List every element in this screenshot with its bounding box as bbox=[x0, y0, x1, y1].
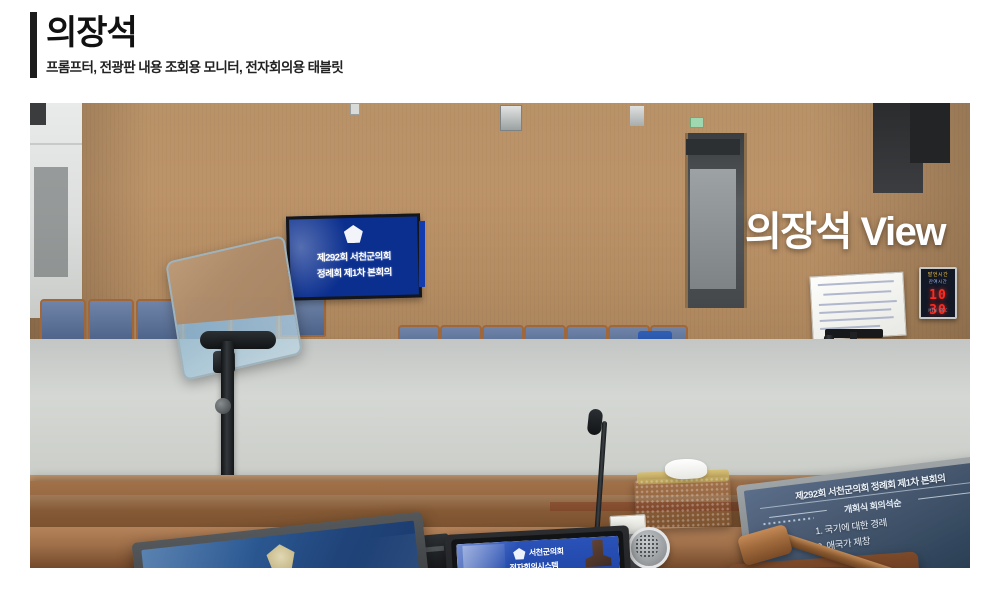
teleprompter-adjust-knob bbox=[215, 398, 231, 414]
gallery-chair bbox=[40, 299, 86, 343]
elevator-header bbox=[686, 139, 740, 155]
chamber-photo: 제292회 서천군의회 정례회 제1차 본회의 bbox=[30, 103, 970, 568]
teleprompter-hood bbox=[200, 331, 276, 349]
wall-display-line2: 정례회 제1차 본회의 bbox=[290, 263, 418, 280]
prompter-screen-glare-2 bbox=[276, 529, 426, 568]
council-tablet: 서천군의회 전자회의시스템 의원명 의원 서천군의회 회의참석 bbox=[451, 531, 629, 568]
photo-overlay-caption: 의장석 View bbox=[745, 208, 945, 256]
speaker-grill-icon bbox=[635, 534, 659, 558]
speech-timer-display: 발언시간 잔여시간 10 30 MIN SEC bbox=[919, 267, 957, 319]
header-accent-bar bbox=[30, 12, 37, 78]
tissue-box bbox=[634, 476, 732, 529]
tablet-glare-top bbox=[462, 544, 506, 568]
corridor-trim bbox=[30, 143, 82, 145]
exit-sign-icon bbox=[690, 117, 704, 128]
tablet-system-line2: 전자회의시스템 bbox=[509, 560, 558, 568]
ceiling-mount-icon bbox=[350, 103, 360, 115]
page-title: 의장석 bbox=[46, 10, 137, 56]
wall-sensor-icon bbox=[30, 103, 46, 125]
conference-speaker bbox=[628, 527, 670, 568]
timer-label-bottom: MIN SEC bbox=[921, 309, 955, 314]
wall-cabinet-secondary bbox=[910, 103, 950, 163]
wall-light-icon bbox=[630, 106, 644, 126]
timer-label-sub: 잔여시간 bbox=[921, 279, 955, 285]
left-door bbox=[34, 167, 68, 277]
wall-display-side-panel bbox=[419, 221, 425, 287]
timer-label-top: 발언시간 bbox=[921, 271, 955, 278]
chamber-wall-display: 제292회 서천군의회 정례회 제1차 본회의 bbox=[286, 213, 422, 300]
page-header: 의장석 프롬프터, 전광판 내용 조회용 모니터, 전자회의용 태블릿 bbox=[0, 0, 1000, 103]
gallery-chair bbox=[88, 299, 134, 343]
tablet-system-line1: 서천군의회 bbox=[529, 546, 564, 559]
page-subtitle: 프롬프터, 전광판 내용 조회용 모니터, 전자회의용 태블릿 bbox=[46, 59, 343, 77]
elevator-door-panel bbox=[690, 169, 736, 289]
gavel-illustration-icon bbox=[584, 539, 612, 568]
wall-display-line1: 제292회 서천군의회 bbox=[290, 247, 418, 264]
wall-speaker-icon bbox=[500, 105, 522, 131]
council-emblem-icon bbox=[513, 548, 527, 561]
tissue-sheet bbox=[665, 458, 708, 480]
